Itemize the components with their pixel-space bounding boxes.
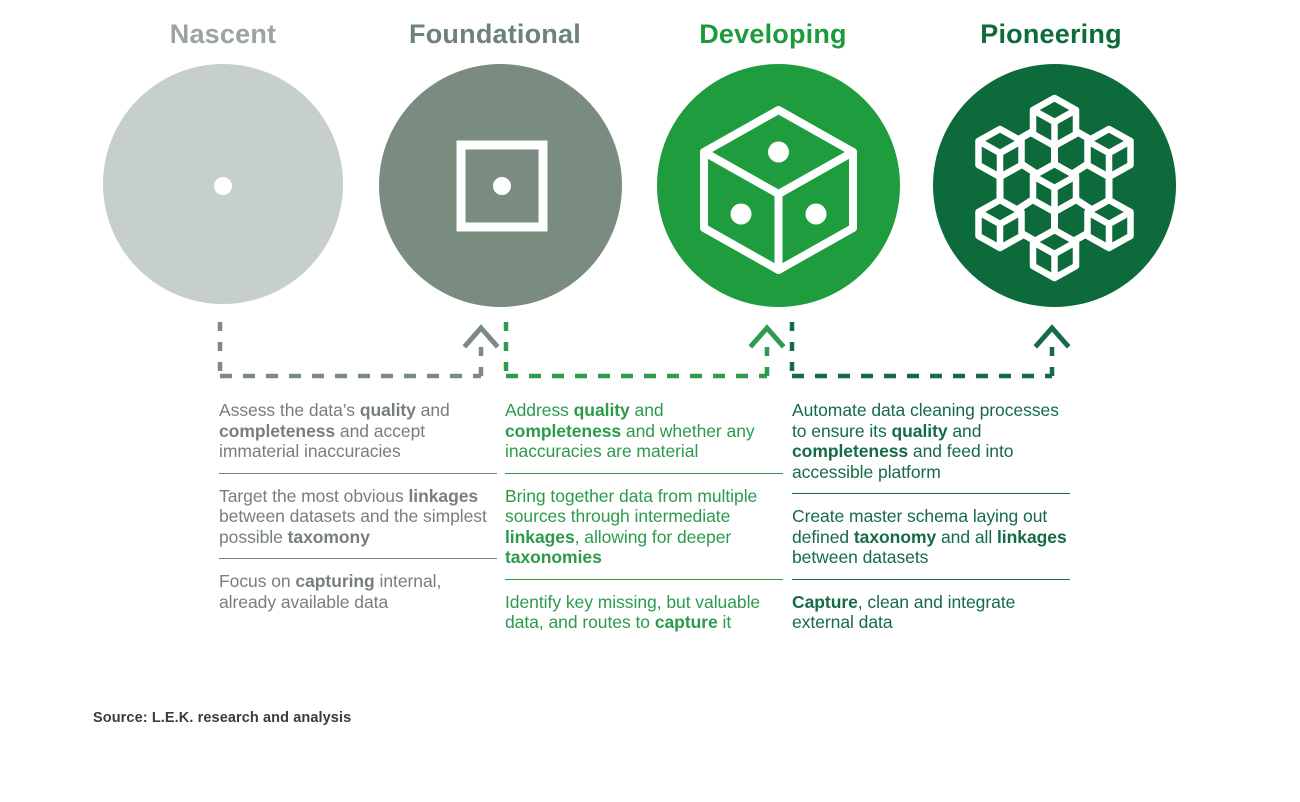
detail-point: Identify key missing, but valuable data,… [505, 580, 783, 644]
stage-circle-pioneering [933, 64, 1176, 307]
stage-detail-columns: Assess the data’s quality and completene… [0, 400, 1300, 670]
stage-connectors [0, 310, 1300, 390]
dot-icon [103, 64, 343, 304]
stage-title-foundational: Foundational [355, 14, 635, 54]
cube-network-icon [933, 64, 1176, 307]
connector-developing-to-pioneering [792, 322, 1067, 376]
connector-nascent-to-foundational [220, 322, 496, 376]
detail-point: Capture, clean and integrate external da… [792, 580, 1070, 644]
stage-title-pioneering: Pioneering [911, 14, 1191, 54]
detail-point: Automate data cleaning processes to ensu… [792, 400, 1070, 494]
stage-title-developing: Developing [633, 14, 913, 54]
detail-point: Create master schema laying out defined … [792, 494, 1070, 580]
detail-point: Target the most obvious linkages between… [219, 474, 497, 560]
stage-title-nascent: Nascent [83, 14, 363, 54]
detail-point: Address quality and completeness and whe… [505, 400, 783, 474]
isometric-cube-dice-icon [657, 64, 900, 307]
column-nascent: Assess the data’s quality and completene… [219, 400, 497, 623]
detail-point: Bring together data from multiple source… [505, 474, 783, 580]
column-foundational: Address quality and completeness and whe… [505, 400, 783, 644]
source-note: Source: L.E.K. research and analysis [93, 710, 351, 726]
detail-point: Assess the data’s quality and completene… [219, 400, 497, 474]
column-developing: Automate data cleaning processes to ensu… [792, 400, 1070, 644]
stage-circle-nascent [103, 64, 343, 304]
detail-point: Focus on capturing internal, already ava… [219, 559, 497, 623]
data-maturity-diagram: Nascent Foundational Developing Pioneeri… [0, 0, 1300, 802]
stage-circle-foundational [379, 64, 622, 307]
square-with-dot-icon [379, 64, 622, 307]
connector-foundational-to-developing [506, 322, 782, 376]
stage-headers: Nascent Foundational Developing Pioneeri… [0, 14, 1300, 58]
stage-circle-developing [657, 64, 900, 307]
